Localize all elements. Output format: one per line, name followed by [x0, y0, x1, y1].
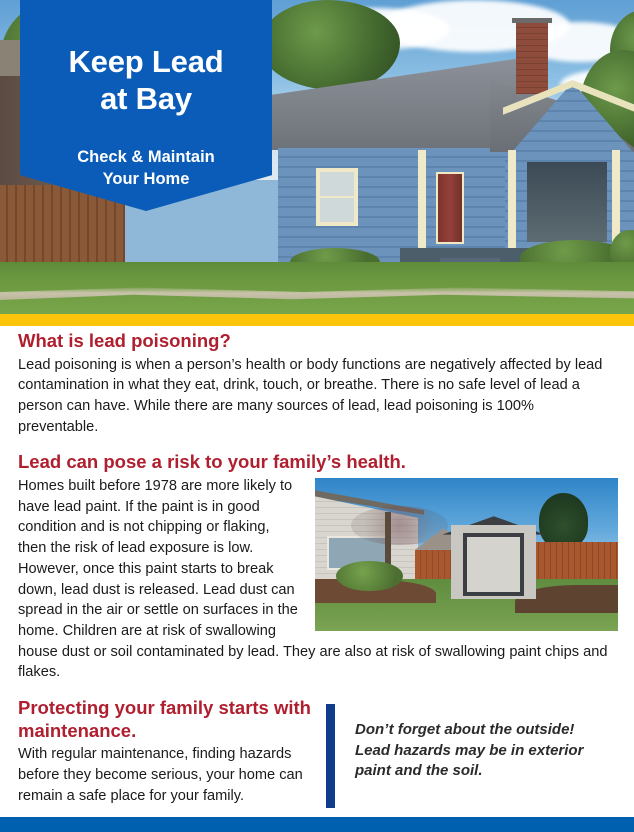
callout-text: Don’t forget about the outside! Lead haz…: [335, 704, 618, 782]
banner-subtitle-line2: Your Home: [103, 170, 190, 188]
section-body-protecting-family: With regular maintenance, finding hazard…: [18, 744, 321, 806]
evergreen-tree: [539, 493, 587, 548]
callout-accent-bar: [326, 704, 335, 808]
section-heading-protecting-family: Protecting your family starts with maint…: [18, 697, 321, 742]
title-banner: Keep Lead at Bay Check & Maintain Your H…: [20, 0, 272, 211]
shed-door: [463, 533, 524, 596]
porch-recess: [527, 162, 607, 242]
banner-subtitle: Check & Maintain Your Home: [77, 147, 215, 190]
shed-photo: [315, 478, 618, 631]
chimney-cap: [512, 18, 552, 23]
banner-title-line1: Keep Lead: [69, 44, 224, 79]
shrub: [336, 561, 403, 592]
callout-box: Don’t forget about the outside! Lead haz…: [326, 704, 618, 808]
porch-column: [418, 150, 426, 260]
section-body-what-is-lead-poisoning: Lead poisoning is when a person’s health…: [18, 355, 618, 438]
porch-column: [508, 150, 516, 260]
section-heading-lead-risk: Lead can pose a risk to your family’s he…: [18, 451, 618, 474]
banner-subtitle-line1: Check & Maintain: [77, 148, 215, 166]
flyer-page: Keep Lead at Bay Check & Maintain Your H…: [0, 0, 634, 832]
banner-title-line2: at Bay: [100, 81, 192, 116]
house-window: [316, 168, 358, 226]
section-protecting-family: Protecting your family starts with maint…: [18, 697, 321, 806]
banner-title: Keep Lead at Bay: [69, 44, 224, 117]
yellow-divider: [0, 314, 634, 326]
footer-bar: [0, 817, 634, 832]
background-tree: [260, 0, 400, 90]
brick-chimney: [516, 22, 548, 94]
section-heading-what-is-lead-poisoning: What is lead poisoning?: [18, 330, 618, 353]
section-lead-risk: Lead can pose a risk to your family’s he…: [18, 451, 618, 683]
front-door: [436, 172, 464, 244]
